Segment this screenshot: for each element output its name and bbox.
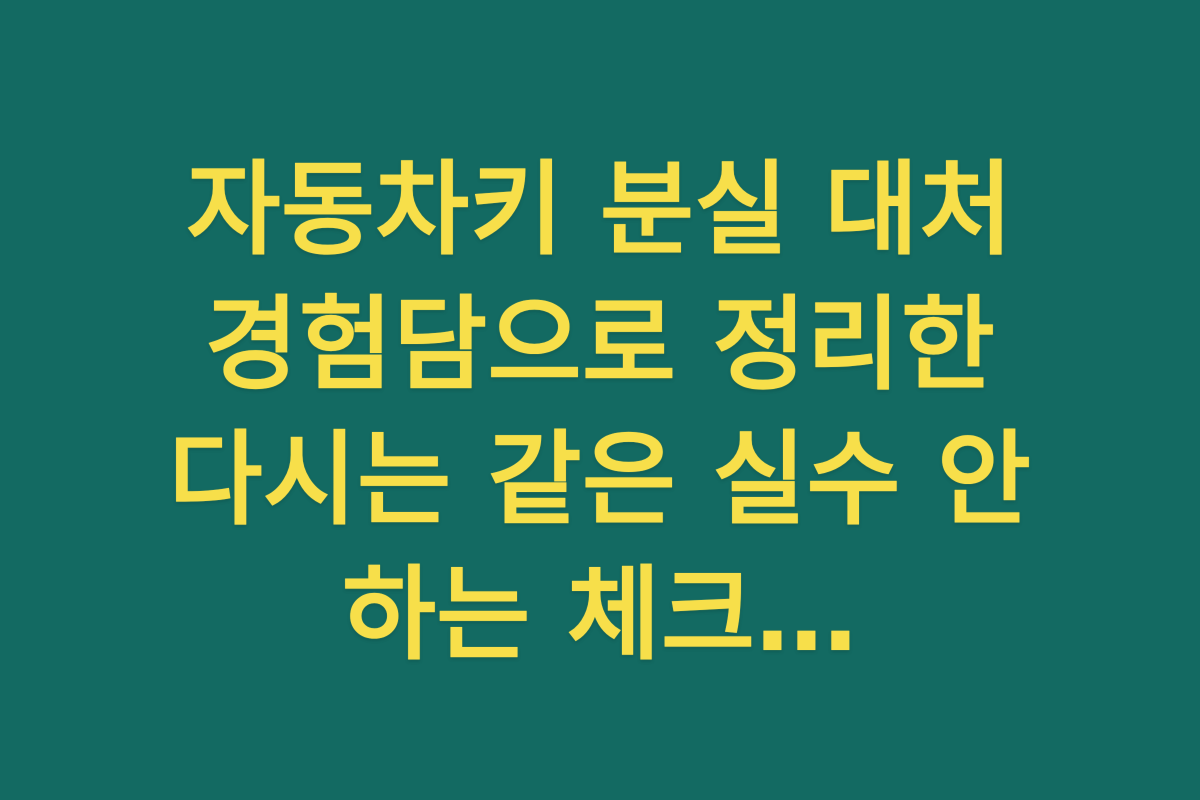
- headline-title: 자동차키 분실 대처 경험담으로 정리한 다시는 같은 실수 안 하는 체크…: [86, 143, 1114, 683]
- thumbnail-canvas: 자동차키 분실 대처 경험담으로 정리한 다시는 같은 실수 안 하는 체크…: [0, 0, 1200, 800]
- headline-block: 자동차키 분실 대처 경험담으로 정리한 다시는 같은 실수 안 하는 체크…: [0, 143, 1200, 683]
